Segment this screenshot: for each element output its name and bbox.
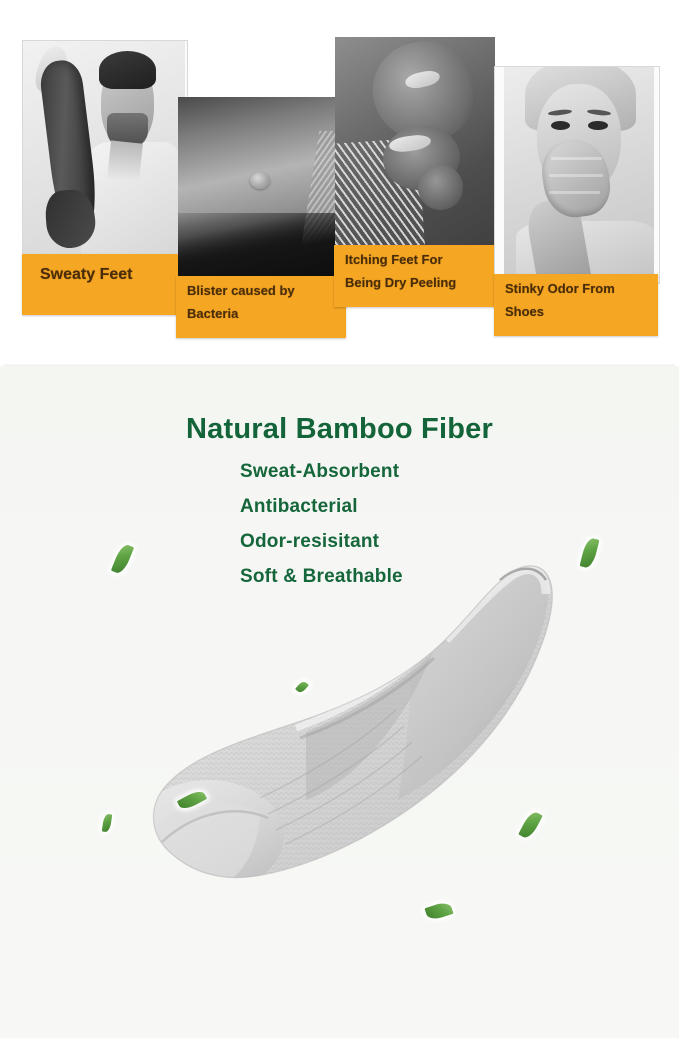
caption-text-blister-line2: Bacteria <box>176 298 346 321</box>
bamboo-leaf-icon <box>580 537 600 569</box>
caption-text-blister-line1: Blister caused by <box>176 276 346 298</box>
photo-stinky-odor <box>504 67 654 281</box>
page-title: Natural Bamboo Fiber <box>0 413 679 446</box>
caption-text-itching-line2: Being Dry Peeling <box>334 267 498 290</box>
caption-text-odor-line2: Shoes <box>494 296 658 319</box>
photo-blister <box>178 97 342 284</box>
bamboo-fiber-section: Natural Bamboo Fiber Sweat-Absorbent Ant… <box>0 366 679 1038</box>
caption-banner-itching: Itching Feet For Being Dry Peeling <box>334 245 498 307</box>
feature-item-sweat-absorbent: Sweat-Absorbent <box>240 454 403 489</box>
foot-problems-section: Sweaty Feet Blister caused by Bacteria <box>0 0 679 366</box>
photo-sweaty-feet <box>23 41 185 281</box>
caption-banner-sweaty-feet: Sweaty Feet <box>22 254 186 315</box>
feature-item-antibacterial: Antibacterial <box>240 489 403 524</box>
caption-text-odor-line1: Stinky Odor From <box>494 274 658 296</box>
bamboo-sock-illustration <box>110 536 580 966</box>
caption-text-sweaty-feet: Sweaty Feet <box>22 254 186 284</box>
caption-banner-odor: Stinky Odor From Shoes <box>494 274 658 336</box>
caption-banner-blister: Blister caused by Bacteria <box>176 276 346 338</box>
caption-text-itching-line1: Itching Feet For <box>334 245 498 267</box>
product-infographic: Sweaty Feet Blister caused by Bacteria <box>0 0 679 1038</box>
product-image-wrapper <box>110 536 580 966</box>
